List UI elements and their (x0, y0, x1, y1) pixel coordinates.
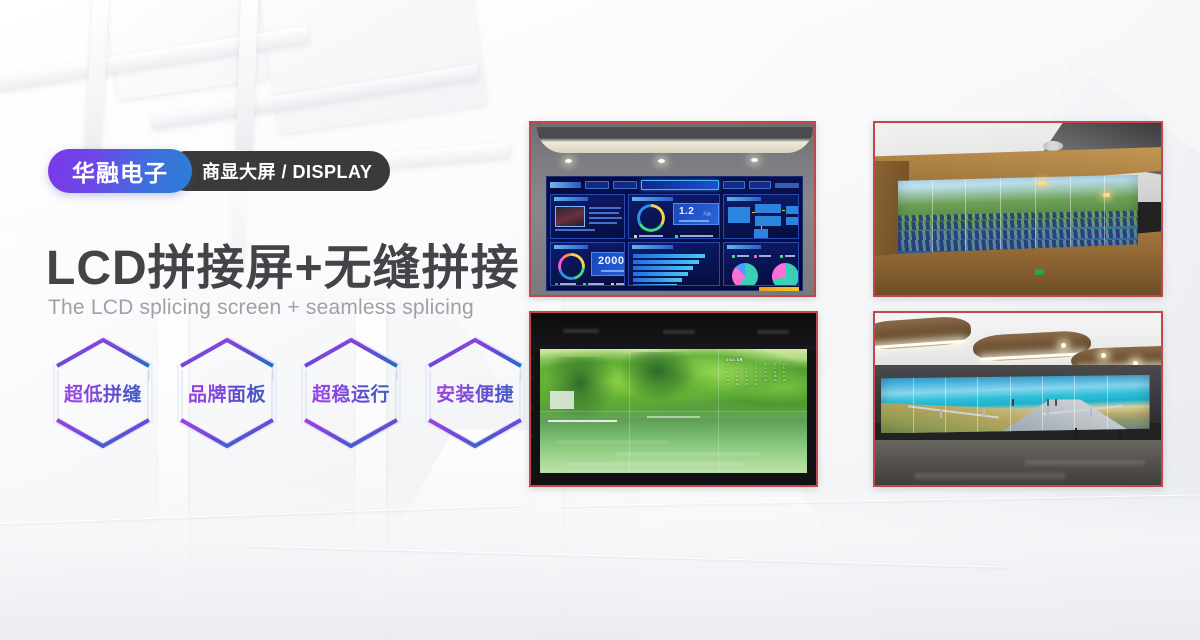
stat-caption (601, 270, 625, 272)
legend-dot (780, 255, 783, 258)
exit-sign-icon (1035, 269, 1044, 275)
card-title-bar (632, 197, 673, 201)
card-title-bar (554, 245, 588, 249)
legend-text (680, 235, 713, 237)
legend-dot (555, 283, 558, 286)
stat-second-value: 2000 (598, 255, 624, 267)
dashboard-card-pies (723, 242, 799, 287)
product-photo-grid: 1.2 万亩 (0, 0, 1200, 640)
dashboard-card-ranking (628, 242, 720, 287)
railing-post (1047, 406, 1049, 415)
flow-node (728, 207, 750, 223)
wall-light (1103, 193, 1110, 197)
panel-seam (1000, 175, 1001, 254)
dashboard-topbar (550, 179, 799, 191)
water-reflection (615, 453, 760, 455)
panel-seam (1107, 375, 1108, 433)
wall-side-button[interactable] (530, 405, 534, 410)
water-reflection (566, 463, 743, 465)
legend-dot (634, 235, 637, 238)
pie-chart (732, 263, 758, 287)
panel-seam (965, 175, 966, 254)
category-pill: 商显大屏 / DISPLAY (166, 151, 390, 191)
card-title-bar (727, 245, 761, 249)
baffle-light (981, 352, 1085, 360)
flow-link (752, 212, 755, 213)
solar-panel-row (898, 229, 1138, 240)
ceiling-light (751, 158, 758, 162)
railing-post (1090, 408, 1092, 417)
brand-badge-row: 华融电子 商显大屏 / DISPLAY (48, 149, 390, 193)
flow-node (786, 217, 799, 225)
dashboard-card-flow-diagram (723, 194, 799, 239)
legend-dot (754, 255, 757, 258)
railing-post (983, 408, 985, 417)
card-text-line (589, 212, 619, 214)
photo-willow-lake-video-wall: 2021 6月 日一二三四五六 12345 6789101112 1314151… (529, 311, 818, 487)
card-text-line (589, 217, 622, 219)
card-title-bar (554, 197, 588, 201)
dashboard-nav-chip (585, 181, 609, 189)
legend-dot (675, 235, 678, 238)
wall-side-button[interactable] (530, 433, 534, 438)
ranking-bar (633, 260, 699, 264)
person-figure (1012, 399, 1014, 406)
brand-pill: 华融电子 (48, 149, 192, 193)
panel-seam (1010, 375, 1011, 433)
flow-link (782, 210, 785, 211)
stat-big-unit: 万亩 (703, 211, 711, 217)
dashboard-video-wall-screen: 1.2 万亩 (546, 176, 803, 291)
photo-lobby-beach-video-wall (873, 311, 1163, 487)
calendar-grid: 日一二三四五六 12345 6789101112 13141516171819 … (726, 363, 792, 386)
flow-node (754, 229, 768, 239)
water-reflection (556, 441, 669, 443)
donut-chart (558, 253, 585, 280)
panel-seam (945, 375, 946, 433)
panel-seam (913, 375, 914, 433)
ranking-bar (633, 254, 705, 258)
legend-text (785, 255, 795, 257)
dashboard-nav-chip (749, 181, 771, 189)
dashboard-status-chip (775, 183, 799, 188)
ceiling-spotlight (1101, 353, 1106, 358)
panel-seam (1074, 375, 1075, 433)
legend-text (759, 255, 771, 257)
dashboard-card-statistics: 1.2 万亩 (628, 194, 720, 239)
photo-solar-farm-video-wall (873, 121, 1163, 297)
dashboard-card-grid: 1.2 万亩 (550, 194, 799, 286)
dashboard-card-area: 2000 亩 (550, 242, 625, 287)
legend-dot (583, 283, 586, 286)
lake-screen: 2021 6月 日一二三四五六 12345 6789101112 1314151… (540, 349, 808, 473)
card-thumbnail (555, 206, 585, 227)
dashboard-card-overview (550, 194, 625, 239)
ceiling-cove (537, 127, 813, 153)
pie-chart (772, 263, 799, 287)
wall-side-button[interactable] (530, 375, 534, 380)
card-text-line (589, 222, 617, 224)
stat-big-value: 1.2 (679, 206, 694, 217)
ceiling-vent (1043, 141, 1063, 151)
ranking-bar (633, 278, 682, 282)
dashboard-title-chip (641, 180, 720, 190)
floor-reflection (915, 473, 1065, 479)
ranking-bar (633, 266, 693, 270)
ranking-bar (633, 272, 688, 276)
card-title-bar (632, 245, 673, 249)
card-title-bar (727, 197, 761, 201)
floor-reflection (1025, 460, 1145, 465)
legend-text (737, 255, 749, 257)
legend-dot (611, 283, 614, 286)
panel-seam (1070, 175, 1071, 254)
panel-seam (932, 175, 933, 254)
ceiling-light (658, 159, 665, 163)
lakeside-railing (548, 420, 618, 422)
ranking-bar (633, 284, 677, 287)
panel-seam (540, 411, 808, 412)
legend-dot (732, 255, 735, 258)
bezel-reflection (563, 329, 599, 333)
legend-text (639, 235, 663, 237)
lakeside-railing (647, 416, 701, 418)
panel-seam (977, 375, 978, 433)
calendar-overlay: 2021 6月 日一二三四五六 12345 6789101112 1314151… (724, 357, 794, 399)
dashboard-ticker (759, 287, 799, 291)
legend-text (616, 283, 625, 285)
promo-banner: 华融电子 商显大屏 / DISPLAY LCD拼接屏+无缝拼接 The LCD … (0, 0, 1200, 640)
beach-video-wall-screen (881, 375, 1150, 433)
railing-post (940, 409, 942, 418)
flow-link (761, 226, 762, 229)
panel-seam (1042, 375, 1043, 433)
photo-control-room-dashboard: 1.2 万亩 (529, 121, 816, 297)
donut-chart (637, 204, 665, 232)
stat-caption (679, 220, 709, 222)
panel-seam (1104, 175, 1105, 254)
baffle-light (875, 340, 965, 350)
ceiling-spotlight (1061, 343, 1066, 348)
flow-node (755, 216, 781, 226)
willow-tree (620, 352, 695, 402)
card-text-line (555, 229, 595, 231)
wall-side-button[interactable] (530, 355, 534, 360)
bezel-reflection (757, 330, 789, 334)
card-text-line (589, 207, 621, 209)
legend-text (588, 283, 604, 285)
wall-light (1038, 181, 1046, 185)
dashboard-nav-chip (613, 181, 637, 189)
ceiling-baffle (875, 315, 972, 351)
legend-text (560, 283, 576, 285)
solar-panel-array (898, 175, 1138, 254)
dashboard-nav-chip (723, 181, 745, 189)
lakeside-building (550, 391, 574, 408)
ceiling-light (565, 159, 572, 163)
flow-node (755, 204, 781, 213)
panel-seam (1035, 175, 1036, 254)
flow-node (786, 206, 799, 214)
panoramic-video-wall-screen (898, 175, 1138, 254)
calendar-title: 2021 6月 (726, 358, 792, 363)
bezel-reflection (663, 330, 695, 334)
dashboard-timestamp (550, 182, 581, 188)
